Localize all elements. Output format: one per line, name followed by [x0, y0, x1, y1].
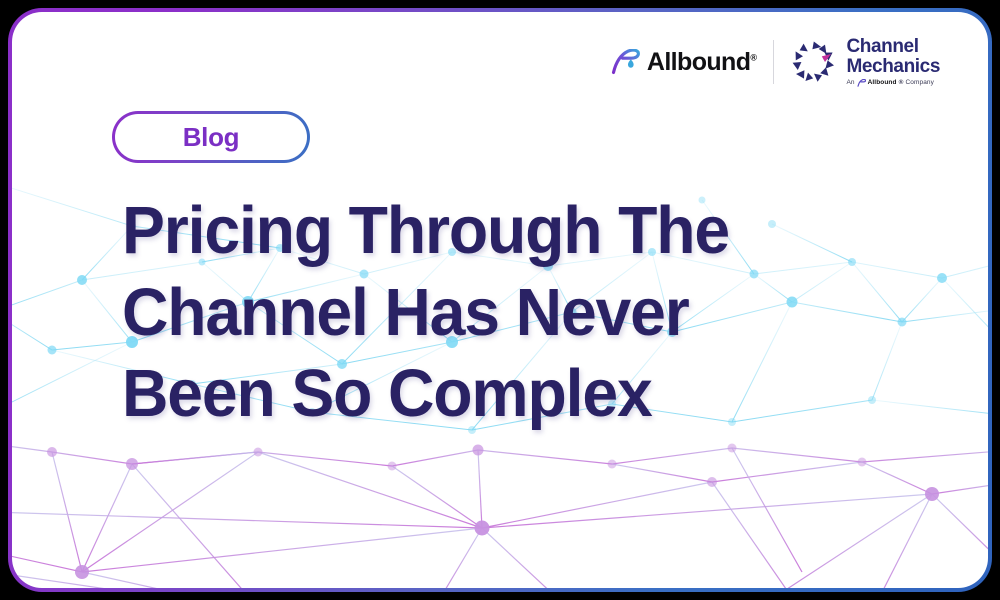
cm-tagline: An Allbound ® Company	[846, 79, 940, 87]
cm-tagline-brand: Allbound	[868, 80, 897, 87]
cm-tagline-suffix: Company	[905, 80, 934, 87]
blog-badge[interactable]: Blog	[112, 111, 310, 163]
channel-mechanics-wordmark: Channel Mechanics An Allbound ® Company	[846, 37, 940, 87]
channel-mechanics-logo[interactable]: Channel Mechanics An Allbound ® Company	[791, 37, 940, 87]
blog-badge-label: Blog	[183, 122, 240, 153]
logo-bar: Allbound®	[610, 38, 940, 86]
headline-line-1: Pricing Through The	[122, 190, 832, 272]
page-title: Pricing Through The Channel Has Never Be…	[122, 190, 862, 435]
allbound-a-mark-small-icon	[857, 79, 866, 87]
blog-hero-card: Allbound®	[12, 12, 988, 588]
registered-trademark-mark: ®	[750, 52, 756, 62]
allbound-a-mark-icon	[610, 49, 640, 75]
cm-name-line-1: Channel	[846, 37, 940, 56]
headline-line-3: Been So Complex	[122, 353, 832, 435]
blog-badge-inner: Blog	[115, 114, 307, 160]
logo-divider	[773, 40, 774, 84]
cm-name-line-2: Mechanics	[846, 57, 940, 76]
allbound-logo[interactable]: Allbound®	[610, 49, 757, 75]
pinwheel-mark-icon	[791, 40, 837, 84]
headline-line-2: Channel Has Never	[122, 272, 832, 354]
cm-tagline-prefix: An	[846, 80, 854, 87]
network-lines-lower	[12, 444, 988, 588]
cm-tagline-brand-mark: ®	[899, 80, 904, 87]
card-frame: Allbound®	[8, 8, 992, 592]
allbound-wordmark: Allbound®	[647, 50, 757, 75]
network-nodes-lower	[47, 444, 939, 589]
